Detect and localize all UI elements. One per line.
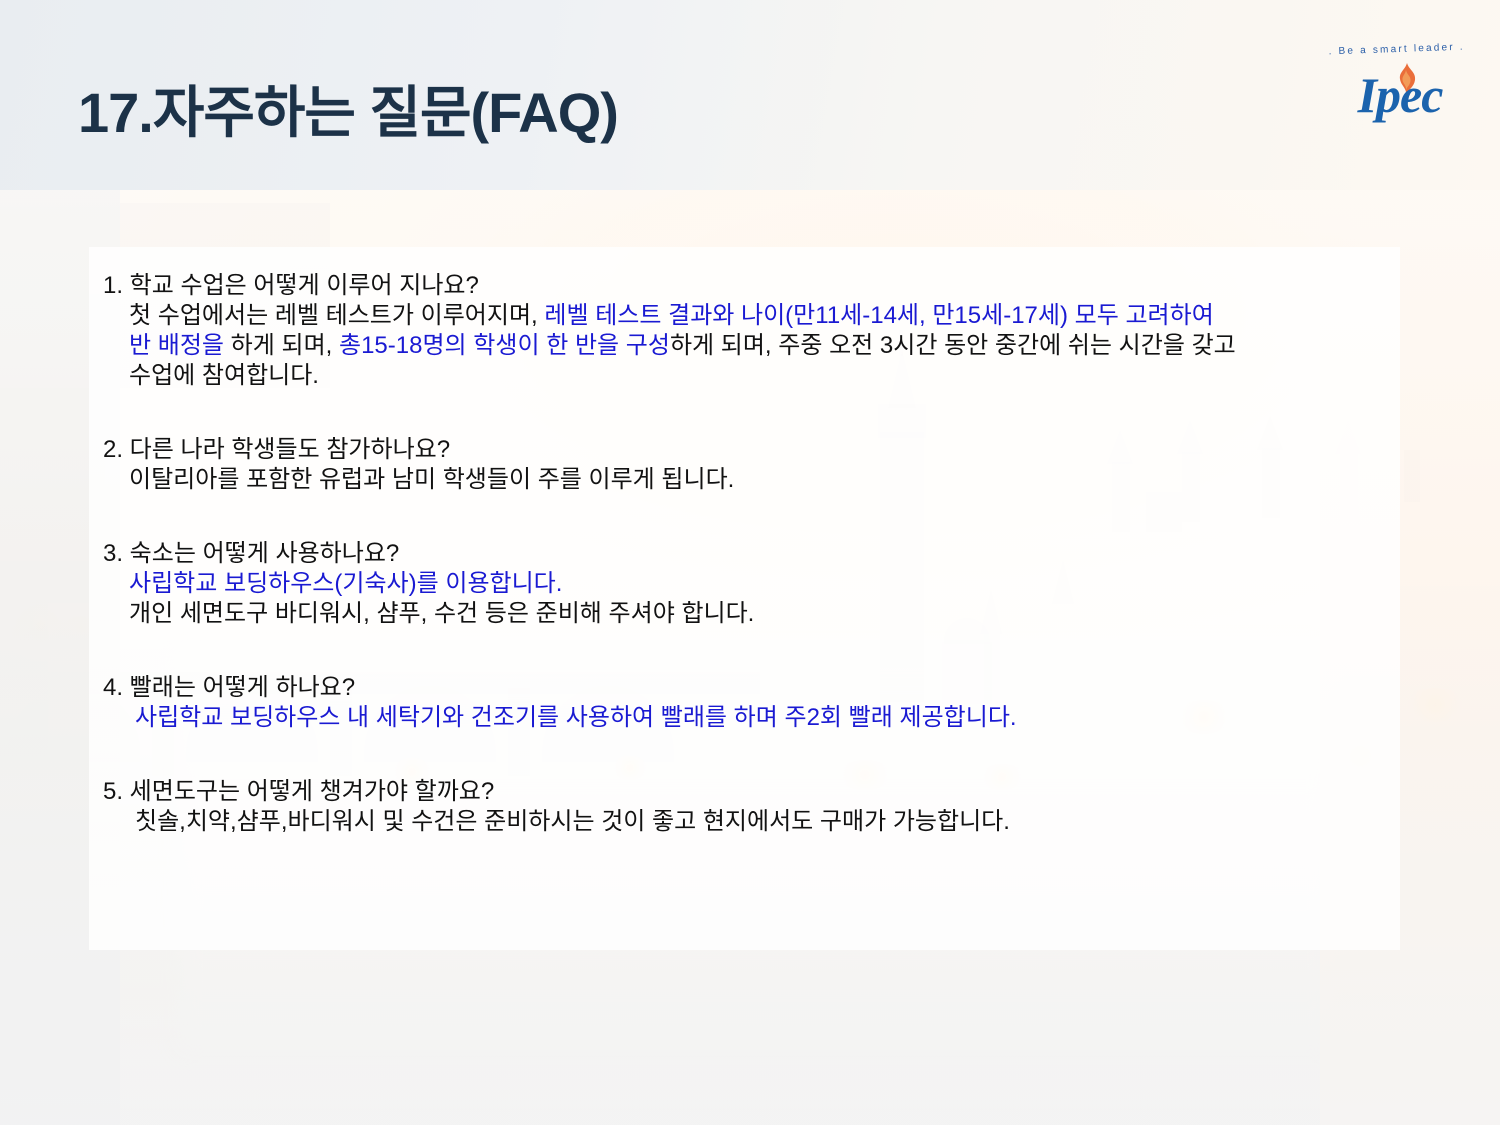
faq-answer-line: 이탈리아를 포함한 유럽과 남미 학생들이 주를 이루게 됩니다.	[103, 465, 1393, 495]
faq-number: 2.	[103, 436, 123, 463]
faq-question: 3. 숙소는 어떻게 사용하나요?	[103, 539, 1393, 569]
faq-answer-line: 개인 세면도구 바디워시, 샴푸, 수건 등은 준비해 주셔야 합니다.	[103, 599, 1393, 629]
faq-item: 1. 학교 수업은 어떻게 이루어 지나요?첫 수업에서는 레벨 테스트가 이루…	[103, 271, 1393, 391]
faq-answer-text: 하게 되며,	[224, 332, 339, 359]
logo: . Be a smart leader . Ipec	[1322, 36, 1472, 136]
faq-answer-highlight: 사립학교 보딩하우스(기숙사)를 이용합니다.	[129, 570, 562, 597]
faq-item: 3. 숙소는 어떻게 사용하나요?사립학교 보딩하우스(기숙사)를 이용합니다.…	[103, 539, 1393, 629]
faq-question: 1. 학교 수업은 어떻게 이루어 지나요?	[103, 271, 1393, 301]
faq-number: 4.	[103, 674, 123, 701]
faq-question-text: 세면도구는 어떻게 챙겨가야 할까요?	[123, 778, 494, 805]
faq-answer-highlight: 반 배정을	[129, 332, 224, 359]
faq-answer-text: 하게 되며, 주중 오전 3시간 동안 중간에 쉬는 시간을 갖고	[670, 332, 1236, 359]
faq-answer-text: 개인 세면도구 바디워시, 샴푸, 수건 등은 준비해 주셔야 합니다.	[129, 600, 754, 627]
faq-question-text: 다른 나라 학생들도 참가하나요?	[123, 436, 450, 463]
faq-number: 3.	[103, 540, 123, 567]
faq-answer-line: 사립학교 보딩하우스(기숙사)를 이용합니다.	[103, 569, 1393, 599]
faq-answer-highlight: 레벨 테스트 결과와 나이(만11세-14세, 만15세-17세) 모두 고려하…	[544, 302, 1213, 329]
faq-number: 1.	[103, 272, 123, 299]
faq-question-text: 학교 수업은 어떻게 이루어 지나요?	[123, 272, 479, 299]
faq-question: 4. 빨래는 어떻게 하나요?	[103, 673, 1393, 703]
faq-list: 1. 학교 수업은 어떻게 이루어 지나요?첫 수업에서는 레벨 테스트가 이루…	[103, 271, 1393, 837]
faq-answer-line: 칫솔,치약,샴푸,바디워시 및 수건은 준비하시는 것이 좋고 현지에서도 구매…	[103, 807, 1393, 837]
page-title: 17.자주하는 질문(FAQ)	[78, 68, 618, 149]
logo-wordmark: Ipec	[1330, 66, 1470, 124]
slide-canvas: 17.자주하는 질문(FAQ) . Be a smart leader . Ip…	[0, 0, 1500, 1125]
content-panel: 1. 학교 수업은 어떻게 이루어 지나요?첫 수업에서는 레벨 테스트가 이루…	[89, 247, 1400, 950]
faq-answer-line: 사립학교 보딩하우스 내 세탁기와 건조기를 사용하여 빨래를 하며 주2회 빨…	[103, 703, 1393, 733]
faq-item: 4. 빨래는 어떻게 하나요?사립학교 보딩하우스 내 세탁기와 건조기를 사용…	[103, 673, 1393, 733]
faq-answer-highlight: 총15-18명의 학생이 한 반을 구성	[339, 332, 670, 359]
faq-answer-highlight: 사립학교 보딩하우스 내 세탁기와 건조기를 사용하여 빨래를 하며 주2회 빨…	[135, 704, 1017, 731]
faq-answer-line: 첫 수업에서는 레벨 테스트가 이루어지며, 레벨 테스트 결과와 나이(만11…	[103, 301, 1393, 331]
faq-question: 5. 세면도구는 어떻게 챙겨가야 할까요?	[103, 777, 1393, 807]
faq-answer-text: 이탈리아를 포함한 유럽과 남미 학생들이 주를 이루게 됩니다.	[129, 466, 734, 493]
faq-answer-line: 반 배정을 하게 되며, 총15-18명의 학생이 한 반을 구성하게 되며, …	[103, 331, 1393, 361]
faq-question-text: 빨래는 어떻게 하나요?	[123, 674, 355, 701]
faq-answer-text: 첫 수업에서는 레벨 테스트가 이루어지며,	[129, 302, 544, 329]
faq-item: 2. 다른 나라 학생들도 참가하나요?이탈리아를 포함한 유럽과 남미 학생들…	[103, 435, 1393, 495]
faq-answer-text: 칫솔,치약,샴푸,바디워시 및 수건은 준비하시는 것이 좋고 현지에서도 구매…	[135, 808, 1010, 835]
faq-answer-text: 수업에 참여합니다.	[129, 362, 319, 389]
faq-question-text: 숙소는 어떻게 사용하나요?	[123, 540, 399, 567]
faq-answer-line: 수업에 참여합니다.	[103, 361, 1393, 391]
faq-question: 2. 다른 나라 학생들도 참가하나요?	[103, 435, 1393, 465]
faq-number: 5.	[103, 778, 123, 805]
faq-item: 5. 세면도구는 어떻게 챙겨가야 할까요?칫솔,치약,샴푸,바디워시 및 수건…	[103, 777, 1393, 837]
